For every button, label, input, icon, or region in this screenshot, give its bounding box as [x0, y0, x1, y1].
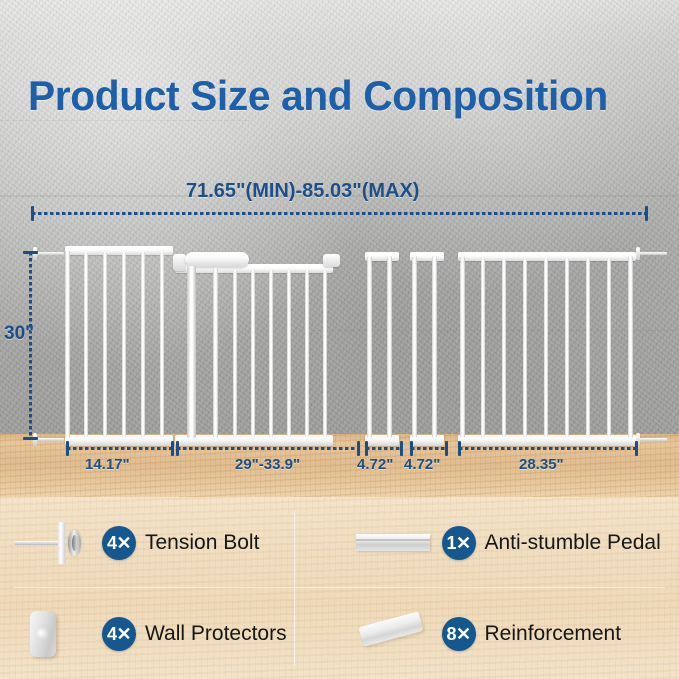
- anti-stumble-pedal-icon: [346, 508, 442, 578]
- parts-legend: 4✕ Tension Bolt 1✕ Anti-stumble Pedal: [0, 497, 679, 679]
- tension-bolt-bottom-left: [36, 438, 64, 441]
- dimension-segment-label: 29"-33.9": [235, 456, 300, 473]
- legend-item-label: Tension Bolt: [145, 531, 259, 555]
- legend-item-anti-stumble-pedal: 1✕ Anti-stumble Pedal: [340, 497, 679, 588]
- dimension-segment-label: 4.72": [404, 456, 440, 473]
- legend-item-label: Wall Protectors: [145, 622, 287, 646]
- gate-extension-4-72-b: [410, 252, 446, 446]
- quantity-badge: 8✕: [442, 617, 476, 651]
- gate-hinge: [173, 254, 186, 271]
- quantity-badge-text: 4✕: [107, 625, 131, 643]
- quantity-badge-text: 4✕: [107, 534, 131, 552]
- tension-bolt-top-left: [36, 252, 64, 255]
- page-title: Product Size and Composition: [28, 72, 608, 120]
- legend-item-tension-bolt: 4✕ Tension Bolt: [0, 497, 340, 588]
- quantity-badge: 4✕: [102, 617, 136, 651]
- tension-bolt-top-right: [639, 252, 667, 255]
- tension-bolt-bottom-right: [639, 438, 667, 441]
- quantity-badge-text: 1✕: [446, 534, 470, 552]
- wall-protector-icon: [6, 599, 102, 669]
- dimension-segment-label: 14.17": [85, 456, 130, 473]
- legend-item-wall-protectors: 4✕ Wall Protectors: [0, 588, 340, 679]
- dimension-height-label: 30": [4, 323, 34, 345]
- legend-item-label: Anti-stumble Pedal: [485, 531, 661, 555]
- gate-latch: [323, 254, 340, 267]
- gate-extension-28-35: [458, 252, 638, 446]
- gate-panel-14-17: [65, 246, 175, 446]
- dimension-segment-label: 28.35": [519, 456, 564, 473]
- product-infographic: 71.65"(MIN)-85.03"(MAX) 30" 14.17" 29"-3…: [0, 0, 679, 679]
- legend-item-label: Reinforcement: [485, 622, 622, 646]
- quantity-badge: 1✕: [442, 526, 476, 560]
- dimension-segment-label: 4.72": [357, 456, 393, 473]
- gate-door-panel: [175, 246, 335, 446]
- gate-extension-4-72-a: [365, 252, 401, 446]
- quantity-badge: 4✕: [102, 526, 136, 560]
- product-photo: 71.65"(MIN)-85.03"(MAX) 30" 14.17" 29"-3…: [0, 0, 679, 497]
- gate-handle: [185, 252, 249, 267]
- reinforcement-icon: [346, 599, 442, 669]
- tension-bolt-icon: [6, 508, 102, 578]
- legend-item-reinforcement: 8✕ Reinforcement: [340, 588, 679, 679]
- quantity-badge-text: 8✕: [446, 625, 470, 643]
- dimension-overall-width-label: 71.65"(MIN)-85.03"(MAX): [186, 180, 419, 203]
